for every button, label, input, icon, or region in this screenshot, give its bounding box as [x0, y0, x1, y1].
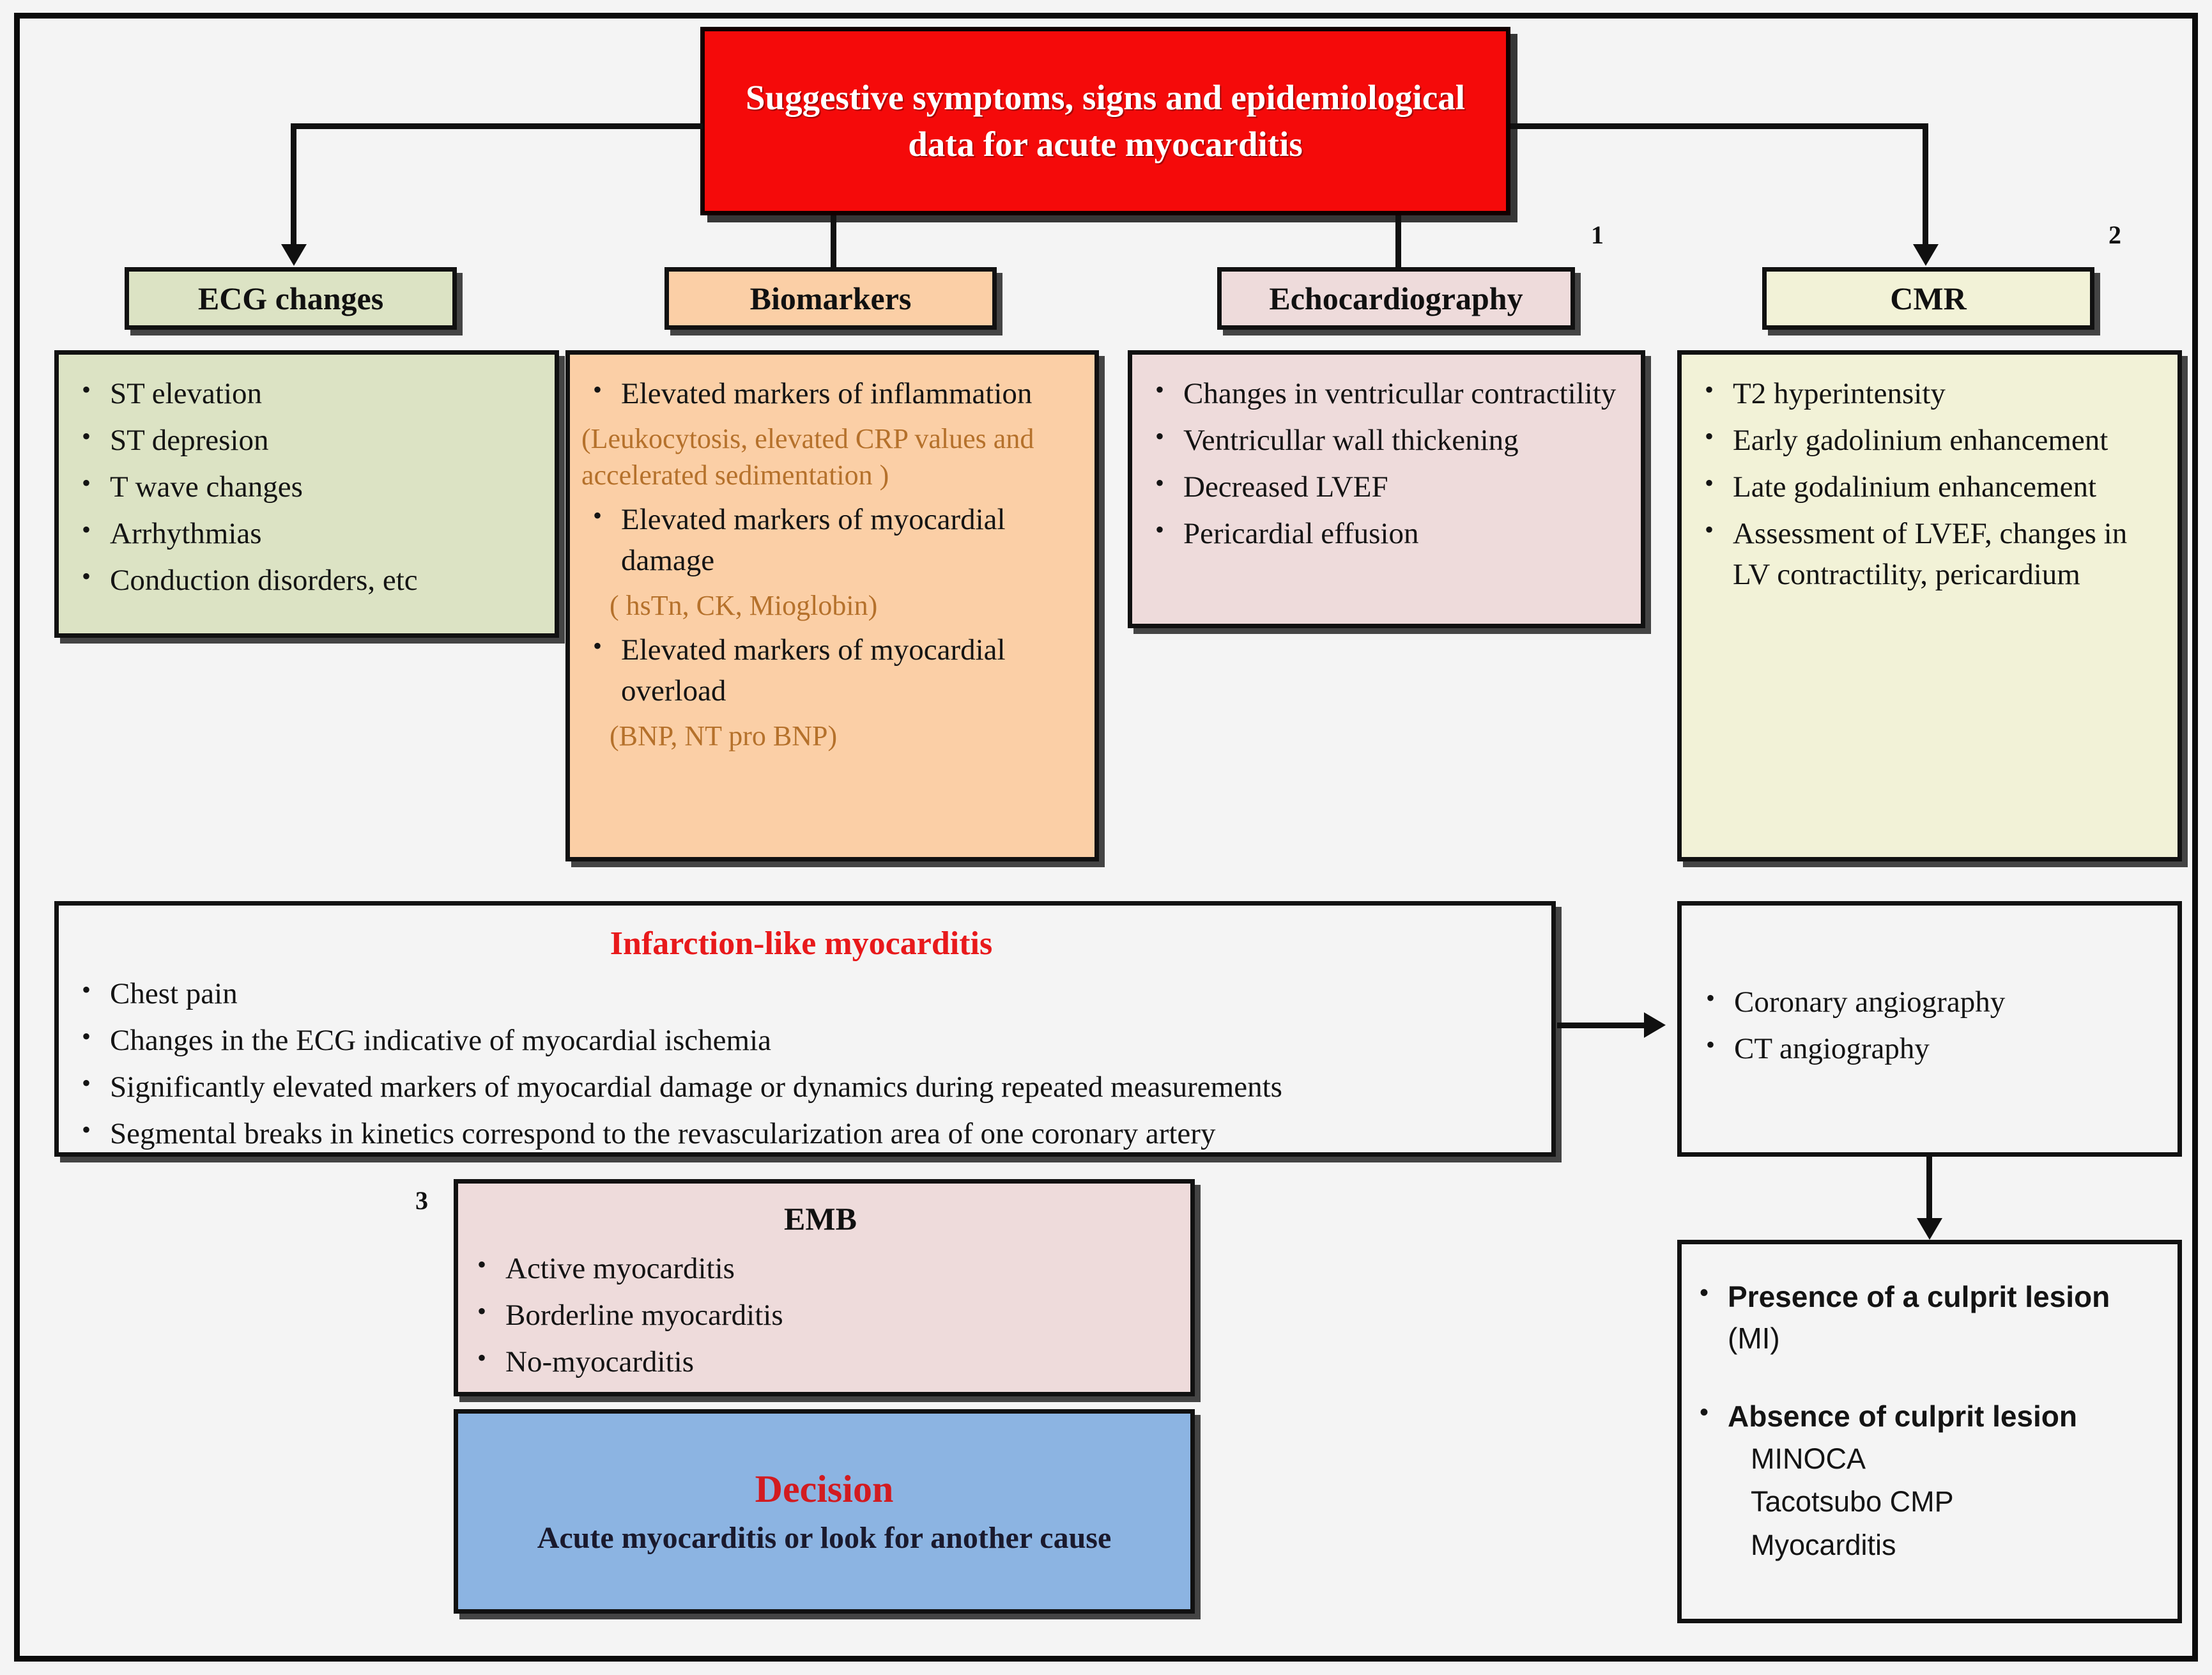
- diagram-canvas: Suggestive symptoms, signs and epidemiol…: [0, 0, 2212, 1675]
- biomarkers-items-list: Elevated markers of inflammation: [581, 374, 1078, 415]
- biomarkers-items-list-3: Elevated markers of myocardial overload: [581, 630, 1078, 712]
- content-box-cmr: T2 hyperintensity Early gadolinium enhan…: [1677, 350, 2182, 861]
- root-node-label: Suggestive symptoms, signs and epidemiol…: [733, 75, 1478, 167]
- header-label-biomarkers: Biomarkers: [750, 280, 912, 317]
- connector-left-rail: [291, 123, 703, 129]
- list-item: Chest pain: [70, 974, 1532, 1015]
- list-item-absence-culprit: Absence of culprit lesion MINOCA Tacotsu…: [1688, 1396, 2163, 1567]
- biomarkers-items-list-2: Elevated markers of myocardial damage: [581, 500, 1078, 582]
- culprit-presence-bold: Presence of a culprit lesion: [1728, 1280, 2110, 1313]
- culprit-absence-sub-2: Tacotsubo CMP: [1728, 1480, 2163, 1524]
- list-item: Coronary angiography: [1694, 982, 2165, 1023]
- connector-infarction-to-angiography: [1557, 1023, 1647, 1028]
- culprit-absence-sub-1: MINOCA: [1728, 1437, 2163, 1481]
- list-item: Arrhythmias: [70, 514, 538, 555]
- header-box-echocardiography[interactable]: Echocardiography: [1217, 267, 1575, 330]
- content-box-ecg-changes: ST elevation ST depresion T wave changes…: [54, 350, 559, 638]
- connector-ecg-vertical: [291, 123, 296, 247]
- content-box-infarction-like-myocarditis: Infarction-like myocarditis Chest pain C…: [54, 901, 1556, 1157]
- list-item: ST elevation: [70, 374, 538, 415]
- header-label-echocardiography: Echocardiography: [1269, 280, 1523, 317]
- list-item-presence-culprit: Presence of a culprit lesion (MI): [1688, 1276, 2163, 1360]
- list-item: Assessment of LVEF, changes in LV contra…: [1693, 514, 2161, 596]
- culprit-absence-bold: Absence of culprit lesion: [1728, 1400, 2077, 1433]
- list-item: Changes in ventricullar contractility: [1144, 374, 1624, 415]
- list-item: Ventricullar wall thickening: [1144, 421, 1624, 461]
- list-item: Decreased LVEF: [1144, 467, 1624, 508]
- culprit-presence-plain: (MI): [1728, 1322, 1780, 1355]
- list-item: T wave changes: [70, 467, 538, 508]
- list-item: CT angiography: [1694, 1029, 2165, 1070]
- biomarkers-note-overload: (BNP, NT pro BNP): [581, 718, 1078, 754]
- emb-items-list: Active myocarditis Borderline myocarditi…: [466, 1249, 1175, 1383]
- superscript-index-1: 1: [1591, 220, 1604, 250]
- arrow-to-angiography-icon: [1644, 1012, 1666, 1038]
- list-item: Elevated markers of myocardial overload: [581, 630, 1078, 712]
- arrow-to-culprit-icon: [1917, 1218, 1942, 1240]
- content-box-emb: EMB Active myocarditis Borderline myocar…: [454, 1179, 1195, 1396]
- list-item: Active myocarditis: [466, 1249, 1175, 1290]
- list-item: Late godalinium enhancement: [1693, 467, 2161, 508]
- culprit-items-list: Presence of a culprit lesion (MI) Absenc…: [1688, 1276, 2163, 1566]
- header-box-ecg-changes[interactable]: ECG changes: [125, 267, 457, 330]
- content-box-angiography: Coronary angiography CT angiography: [1677, 901, 2182, 1157]
- list-item: Segmental breaks in kinetics correspond …: [70, 1114, 1532, 1155]
- decision-box-title: Decision: [755, 1467, 894, 1511]
- arrow-to-cmr-icon: [1913, 244, 1939, 266]
- list-item: Conduction disorders, etc: [70, 560, 538, 601]
- header-label-ecg-changes: ECG changes: [198, 280, 383, 317]
- infarction-items-list: Chest pain Changes in the ECG indicative…: [70, 974, 1532, 1155]
- list-item: T2 hyperintensity: [1693, 374, 2161, 415]
- list-item: Early gadolinium enhancement: [1693, 421, 2161, 461]
- content-box-biomarkers: Elevated markers of inflammation (Leukoc…: [565, 350, 1099, 861]
- ecg-items-list: ST elevation ST depresion T wave changes…: [70, 374, 538, 601]
- content-box-echocardiography: Changes in ventricullar contractility Ve…: [1128, 350, 1645, 628]
- echo-items-list: Changes in ventricullar contractility Ve…: [1144, 374, 1624, 555]
- emb-box-title: EMB: [466, 1200, 1175, 1237]
- root-node-suggestive-symptoms[interactable]: Suggestive symptoms, signs and epidemiol…: [700, 27, 1510, 215]
- biomarkers-note-damage: ( hsTn, CK, Mioglobin): [581, 587, 1078, 624]
- list-item: Pericardial effusion: [1144, 514, 1624, 555]
- list-item: Elevated markers of myocardial damage: [581, 500, 1078, 582]
- connector-right-rail: [1510, 123, 1928, 129]
- angiography-items-list: Coronary angiography CT angiography: [1682, 982, 2177, 1076]
- header-label-cmr: CMR: [1890, 280, 1966, 317]
- list-item: Elevated markers of inflammation: [581, 374, 1078, 415]
- list-item: No-myocarditis: [466, 1342, 1175, 1383]
- cmr-items-list: T2 hyperintensity Early gadolinium enhan…: [1693, 374, 2161, 596]
- connector-angiography-to-culprit: [1926, 1157, 1932, 1221]
- list-item: Significantly elevated markers of myocar…: [70, 1067, 1532, 1108]
- content-box-culprit-lesion: Presence of a culprit lesion (MI) Absenc…: [1677, 1240, 2182, 1623]
- superscript-index-2: 2: [2108, 220, 2121, 250]
- content-box-decision[interactable]: Decision Acute myocarditis or look for a…: [454, 1409, 1195, 1614]
- header-box-biomarkers[interactable]: Biomarkers: [664, 267, 997, 330]
- superscript-index-3: 3: [415, 1185, 428, 1216]
- list-item: Borderline myocarditis: [466, 1295, 1175, 1336]
- connector-cmr-vertical: [1923, 123, 1928, 247]
- infarction-box-title: Infarction-like myocarditis: [70, 925, 1532, 962]
- header-box-cmr[interactable]: CMR: [1762, 267, 2094, 330]
- list-item: Changes in the ECG indicative of myocard…: [70, 1021, 1532, 1061]
- decision-box-subtitle: Acute myocarditis or look for another ca…: [537, 1520, 1112, 1555]
- biomarkers-note-inflammation: (Leukocytosis, elevated CRP values and a…: [581, 421, 1078, 493]
- culprit-absence-sub-3: Myocarditis: [1728, 1524, 2163, 1567]
- arrow-to-ecg-icon: [281, 244, 307, 266]
- list-item: ST depresion: [70, 421, 538, 461]
